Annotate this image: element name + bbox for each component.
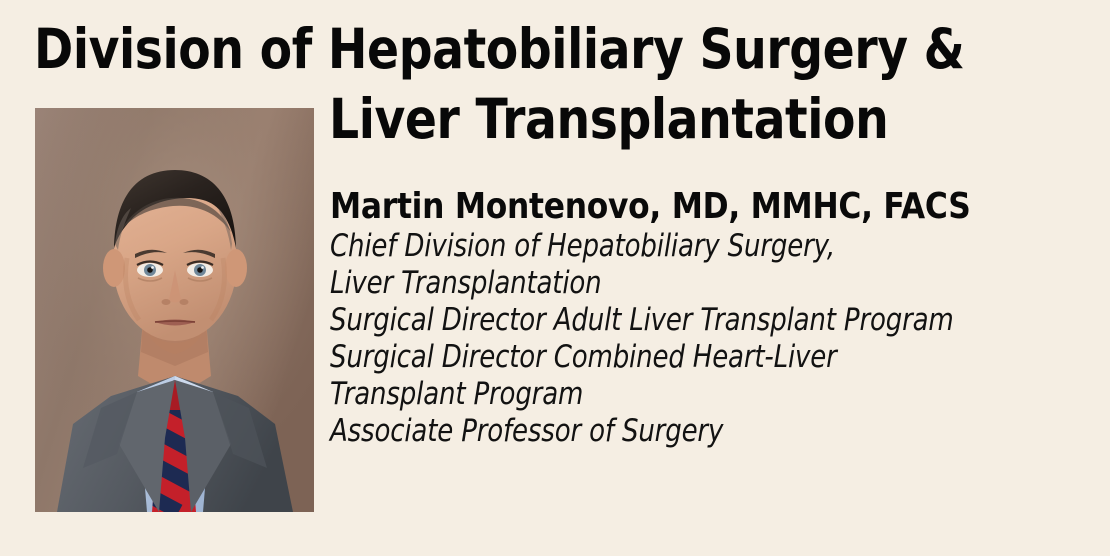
- role-line: Transplant Program: [330, 376, 968, 413]
- role-line: Liver Transplantation: [330, 265, 968, 302]
- role-line: Associate Professor of Surgery: [330, 413, 968, 450]
- person-name: Martin Montenovo, MD, MMHC, FACS: [330, 186, 991, 228]
- portrait-photo: [35, 108, 314, 512]
- role-line: Surgical Director Adult Liver Transplant…: [330, 302, 968, 339]
- person-info: Martin Montenovo, MD, MMHC, FACS Chief D…: [330, 186, 1090, 450]
- portrait-illustration: [35, 108, 314, 512]
- page-title-line-1: Division of Hepatobiliary Surgery &: [34, 14, 937, 84]
- slide-root: Division of Hepatobiliary Surgery & Live…: [0, 0, 1110, 556]
- role-line: Chief Division of Hepatobiliary Surgery,: [330, 228, 968, 265]
- role-line: Surgical Director Combined Heart-Liver: [330, 339, 968, 376]
